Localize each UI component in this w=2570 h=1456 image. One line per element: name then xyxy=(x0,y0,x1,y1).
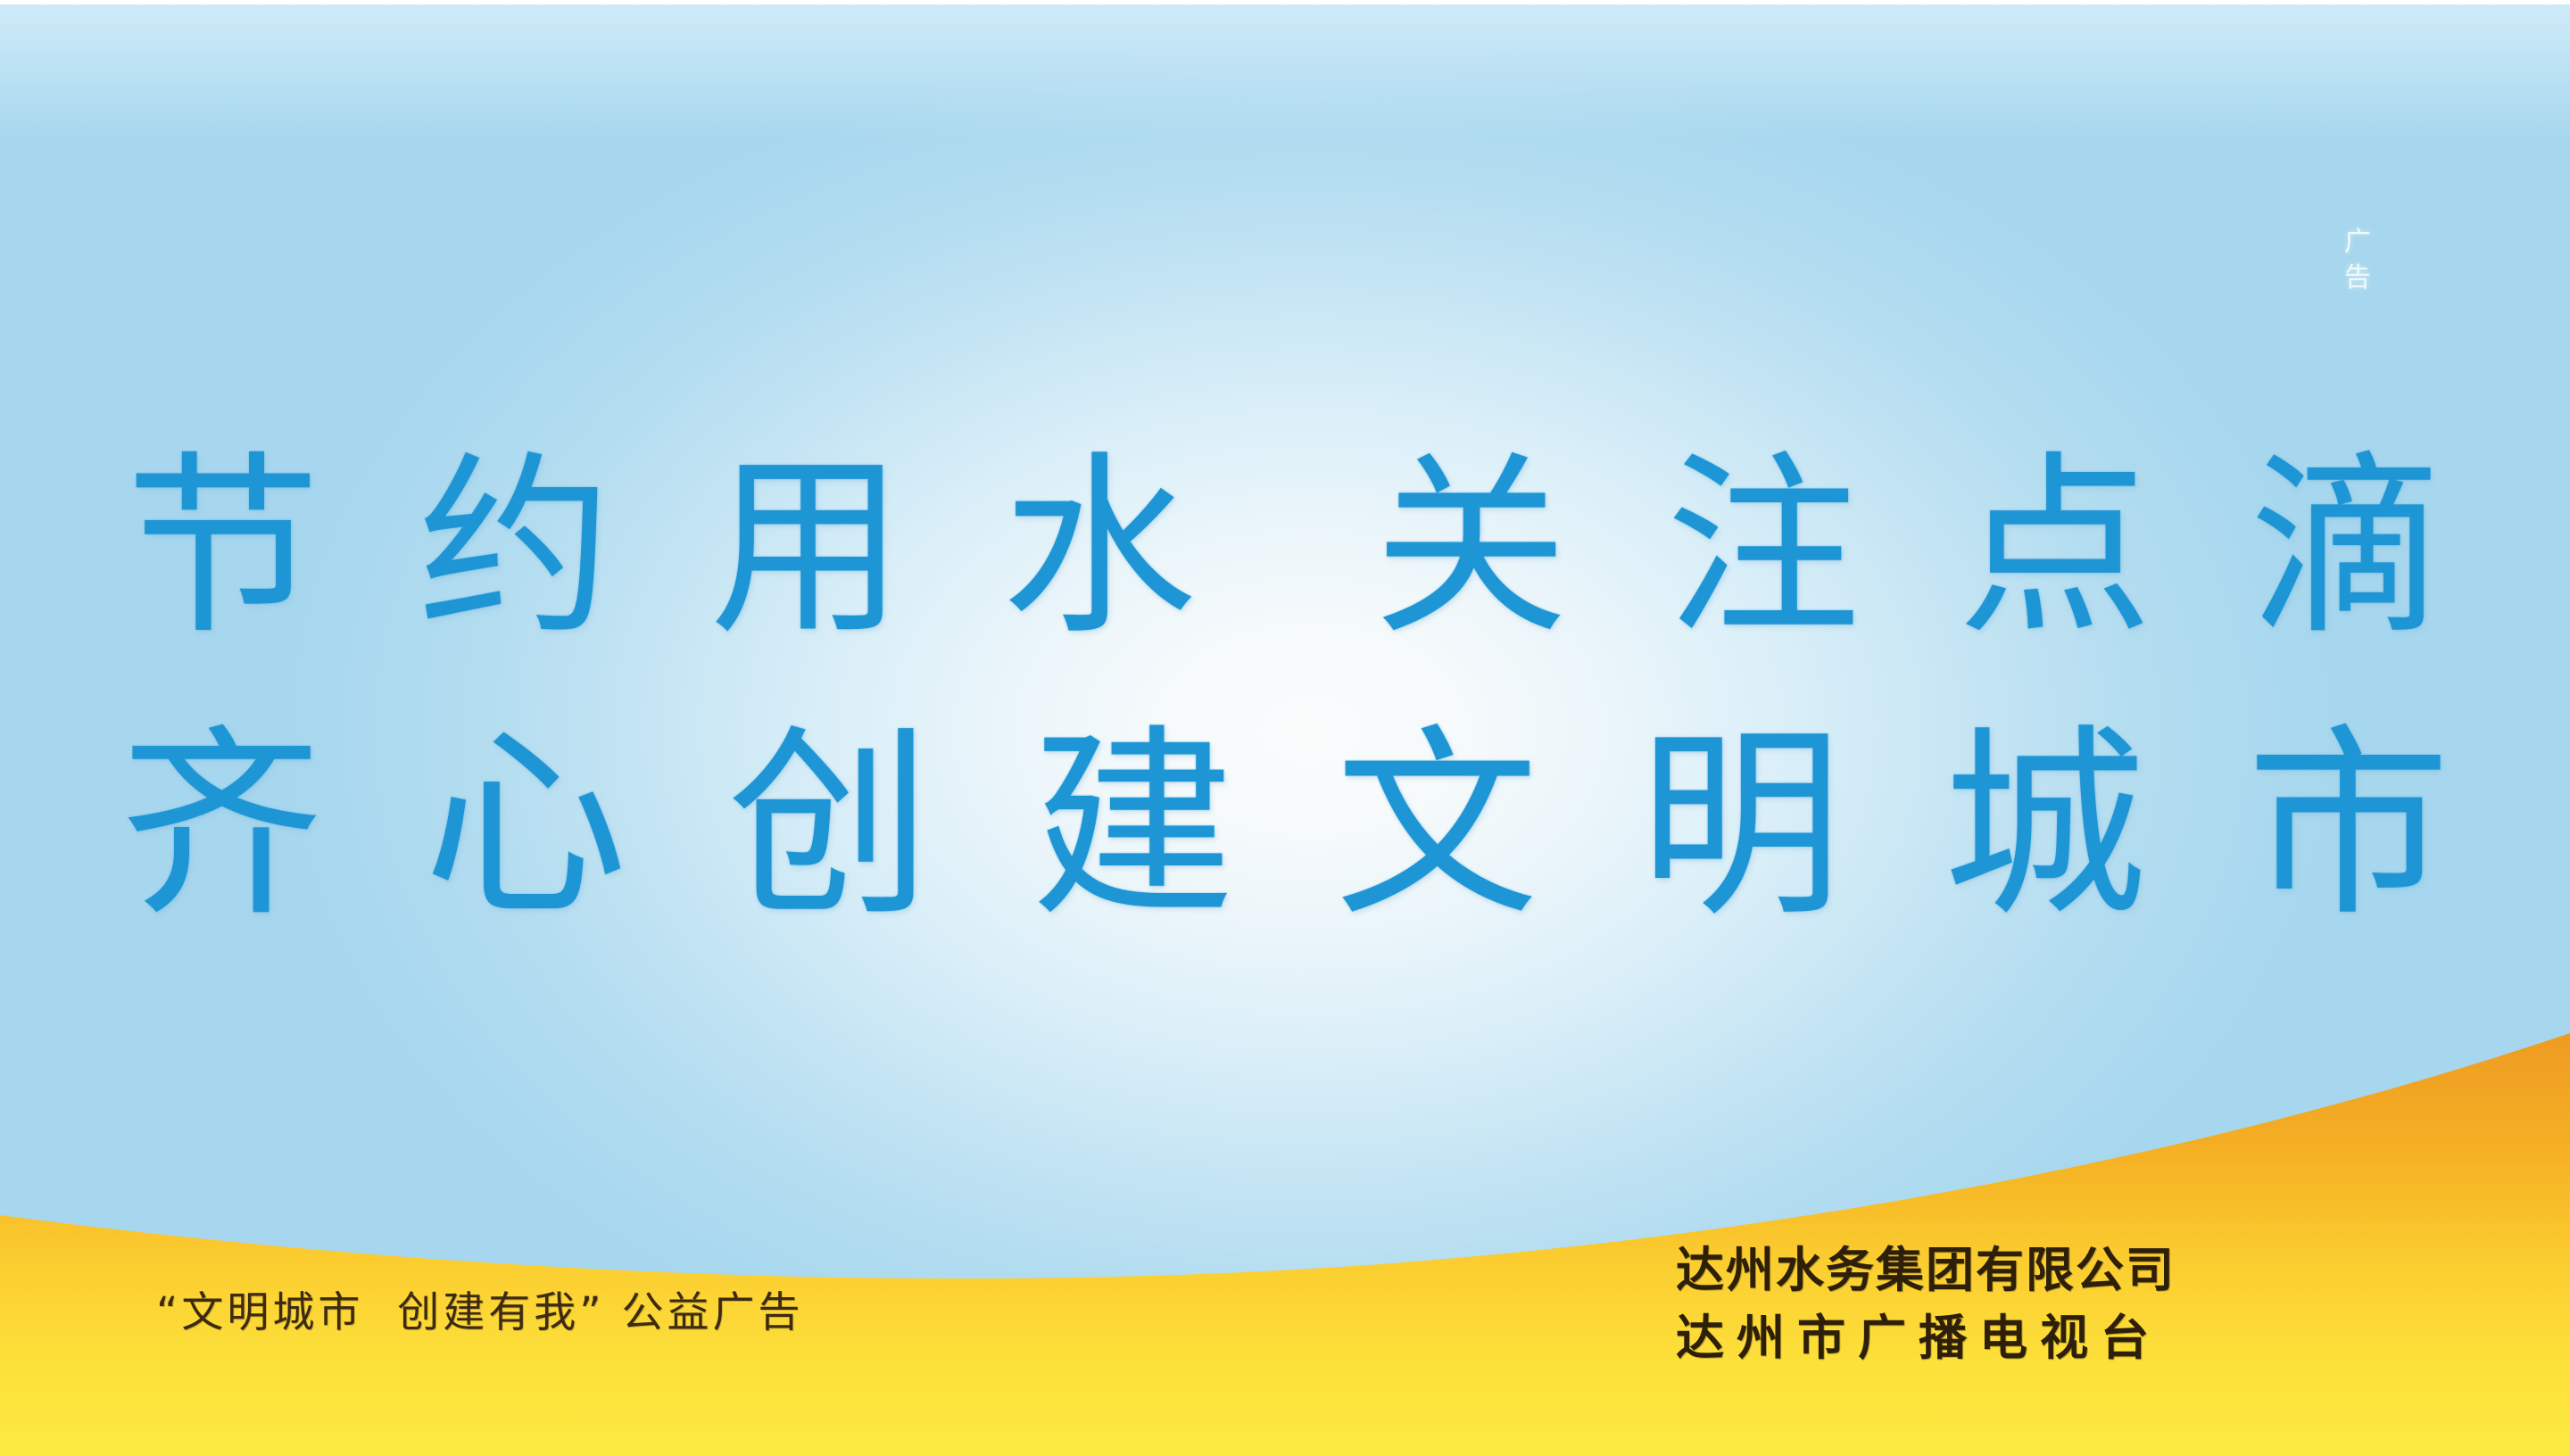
top-white-strip xyxy=(0,0,2570,4)
public-service-caption: “文明城市 创建有我” 公益广告 xyxy=(156,1286,804,1340)
slogan-line-2: 齐 心 创 建 文 明 城 市 xyxy=(0,691,2570,959)
advertisement-watermark-char-1: 广 xyxy=(2331,225,2384,261)
sponsor-block: 达州水务集团有限公司 达州市广播电视台 xyxy=(1676,1237,2176,1372)
slogan-line-1: 节 约 用 水 关 注 点 滴 xyxy=(0,406,2570,691)
advertisement-watermark: 广 告 xyxy=(2331,225,2384,296)
slogan-block: 节 约 用 水 关 注 点 滴 齐 心 创 建 文 明 城 市 xyxy=(0,406,2570,959)
sponsor-company-name: 达州水务集团有限公司 xyxy=(1676,1237,2176,1304)
sponsor-broadcaster-name: 达州市广播电视台 xyxy=(1676,1304,2176,1372)
advertisement-watermark-char-2: 告 xyxy=(2331,261,2384,296)
yellow-band-shape xyxy=(0,981,2570,1456)
advertisement-poster: 广 告 节 约 用 水 关 注 点 滴 齐 心 创 建 文 明 城 市 “文明城… xyxy=(0,0,2570,1456)
yellow-footer-band xyxy=(0,981,2570,1456)
